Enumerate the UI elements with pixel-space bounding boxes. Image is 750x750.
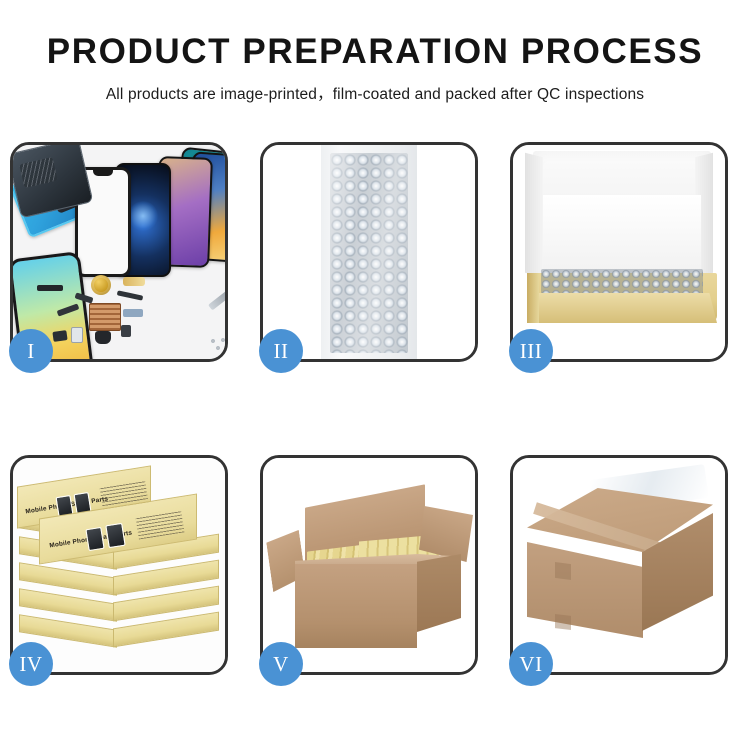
foam-sheet-icon xyxy=(543,195,701,273)
header: PRODUCT PREPARATION PROCESS All products… xyxy=(0,0,750,104)
carton-front-face-icon xyxy=(295,564,417,648)
connector-part-icon xyxy=(123,309,143,317)
screws-icon xyxy=(209,337,225,351)
panel-badge-2: II xyxy=(259,329,303,373)
panel-badge-6: VI xyxy=(509,642,553,686)
page-title: PRODUCT PREPARATION PROCESS xyxy=(0,34,750,71)
stacked-boxes-scene: Mobile Phone Spare Parts Mobile Phone Sp… xyxy=(13,458,225,672)
carton-side-face-icon xyxy=(417,554,461,632)
panel-badge-3: III xyxy=(509,329,553,373)
battery-part-icon xyxy=(121,325,131,337)
page-subtitle: All products are image-printed，film-coat… xyxy=(0,82,750,104)
phone-parts-scene xyxy=(13,145,225,359)
sealed-carton-scene xyxy=(513,458,725,672)
carton-handle-tab-icon xyxy=(555,562,571,580)
spare-part-icon xyxy=(52,330,67,342)
open-carton-scene xyxy=(263,458,475,672)
carton-handle-tab-icon xyxy=(555,614,571,630)
panel-image-open-carton xyxy=(263,458,475,672)
open-kraft-box-scene xyxy=(513,145,725,359)
panel-image-bubble-wrap xyxy=(263,145,475,359)
panel-image-stacked-retail-boxes: Mobile Phone Spare Parts Mobile Phone Sp… xyxy=(13,458,225,672)
kraft-tray-edge-icon xyxy=(527,273,539,323)
panel-open-carton[interactable]: V xyxy=(260,455,478,675)
carton-front-face-icon xyxy=(527,542,643,638)
flex-cable-part-icon xyxy=(123,277,145,286)
panel-sealed-carton[interactable]: VI xyxy=(510,455,728,675)
chip-board-part-icon xyxy=(89,303,121,331)
panel-phone-parts[interactable]: I xyxy=(10,142,228,362)
kraft-tray-front-icon xyxy=(527,293,717,323)
panel-image-phone-parts xyxy=(13,145,225,359)
bubble-wrap-sheen xyxy=(330,153,408,353)
bubble-wrap-scene xyxy=(263,145,475,359)
panel-badge-4: IV xyxy=(9,642,53,686)
box-phone-image-icon xyxy=(105,523,125,548)
panel-open-kraft-box[interactable]: III xyxy=(510,142,728,362)
camera-module-part-icon xyxy=(95,331,111,344)
process-panel-grid: I II III xyxy=(10,142,740,675)
lid-flap-left-icon xyxy=(525,153,543,277)
spare-part-icon xyxy=(37,285,63,291)
panel-image-open-kraft-box xyxy=(513,145,725,359)
copper-coil-part-icon xyxy=(91,275,111,295)
sim-tray-part-icon xyxy=(71,327,83,343)
panel-image-sealed-carton xyxy=(513,458,725,672)
panel-stacked-retail-boxes[interactable]: Mobile Phone Spare Parts Mobile Phone Sp… xyxy=(10,455,228,675)
panel-badge-5: V xyxy=(259,642,303,686)
panel-badge-1: I xyxy=(9,329,53,373)
box-phone-image-icon xyxy=(85,527,104,551)
panel-bubble-wrap[interactable]: II xyxy=(260,142,478,362)
spare-part-icon xyxy=(117,290,143,300)
tweezers-tool-icon xyxy=(208,287,225,311)
